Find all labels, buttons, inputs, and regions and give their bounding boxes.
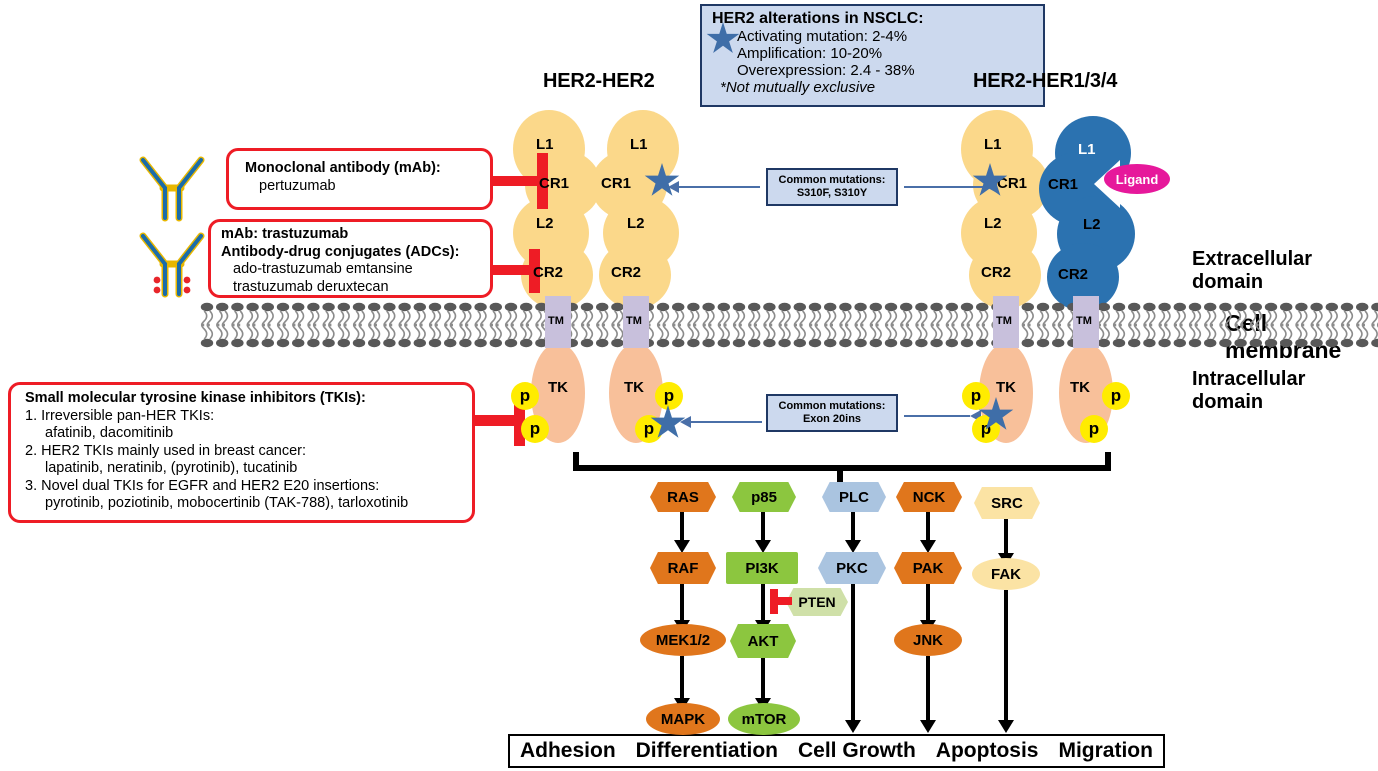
arrowhead-ras-raf (674, 540, 690, 553)
node-RAS: RAS (650, 482, 716, 512)
tki-line-3: 2. HER2 TKIs mainly used in breast cance… (25, 443, 472, 461)
kinase-label-c: TK (996, 379, 1016, 396)
lobe-label-L1-c: L1 (984, 136, 1002, 153)
lobe-label-L2-c: L2 (984, 215, 1002, 232)
arrow-mek-mapk (680, 656, 684, 703)
adc-line-1: Antibody-drug conjugates (ADCs): (221, 244, 490, 262)
outcomes-bar: Adhesion Differentiation Cell Growth Apo… (508, 734, 1165, 768)
node-p85: p85 (732, 482, 796, 512)
arrow-fak-outcome (1004, 590, 1008, 724)
adc-line-2: ado-trastuzumab emtansine (221, 261, 490, 279)
arrowhead-jnk-outcome (920, 720, 936, 733)
lobe-label-L2-b: L2 (627, 215, 645, 232)
arrowhead-fak-outcome (998, 720, 1014, 733)
arrow-raf-mek (680, 584, 684, 624)
kinase-label-a: TK (548, 379, 568, 396)
arrowhead-pkc-outcome (845, 720, 861, 733)
tki-line-1: 1. Irreversible pan-HER TKIs: (25, 408, 472, 426)
arrowhead-nck-pak (920, 540, 936, 553)
node-PAK: PAK (894, 552, 962, 584)
mab-line-0: Monoclonal antibody (mAb): (245, 160, 490, 178)
lobe-label-L2-a: L2 (536, 215, 554, 232)
node-SRC: SRC (974, 487, 1040, 519)
callout-ecd-line2: S310F, S310Y (797, 187, 867, 200)
phospho-d-2: p (1080, 415, 1108, 443)
arrow-pi3k-akt (761, 584, 765, 624)
mab-drug-box: Monoclonal antibody (mAb): pertuzumab (226, 148, 493, 210)
callout-ecd-line1: Common mutations: (779, 174, 886, 187)
tki-line-2: afatinib, dacomitinib (25, 425, 472, 443)
mab-inhibitor-line (490, 176, 540, 186)
extracellular-domain-label: Extracellular domain (1192, 248, 1378, 294)
lobe-label-CR1-d: CR1 (1048, 176, 1078, 193)
tm-label-a: TM (548, 315, 564, 327)
node-MEK1-2: MEK1/2 (640, 624, 726, 656)
arrow-pkc-outcome (851, 584, 855, 724)
node-AKT: AKT (730, 624, 796, 658)
arrow-akt-mtor (761, 658, 765, 703)
pten-inhibitor-line (776, 597, 792, 605)
left-dimer-title: HER2-HER2 (543, 70, 655, 93)
node-JNK: JNK (894, 624, 962, 656)
node-mTOR: mTOR (728, 703, 800, 735)
node-PKC: PKC (818, 552, 886, 584)
lobe-label-L1-a: L1 (536, 136, 554, 153)
lobe-label-L1-b: L1 (630, 136, 648, 153)
phospho-b-1: p (655, 382, 683, 410)
node-MAPK: MAPK (646, 703, 720, 735)
adc-line-0: mAb: trastuzumab (221, 226, 490, 244)
lobe-label-CR1-a: CR1 (539, 175, 569, 192)
callout-arrow-ecd-right (904, 186, 986, 188)
ligand-badge: Ligand (1104, 164, 1170, 194)
antibody-icon-adc (133, 228, 215, 309)
lobe-label-CR2-a: CR2 (533, 264, 563, 281)
node-PLC: PLC (822, 482, 886, 512)
mab-line-1: pertuzumab (245, 178, 490, 196)
lobe-label-L2-d: L2 (1083, 216, 1101, 233)
tki-line-4: lapatinib, neratinib, (pyrotinib), tucat… (25, 460, 472, 478)
adc-drug-box: mAb: trastuzumab Antibody-drug conjugate… (208, 219, 493, 298)
cell-membrane-bilayer (200, 302, 1378, 348)
arrow-pak-jnk (926, 584, 930, 624)
callout-kin-line2: Exon 20ins (803, 413, 861, 426)
infobox-row-0: Activating mutation: 2-4% (712, 28, 1035, 45)
node-PI3K: PI3K (726, 552, 798, 584)
callout-kin-line1: Common mutations: (779, 400, 886, 413)
lobe-label-L1-d: L1 (1078, 141, 1096, 158)
outcome-4: Migration (1058, 739, 1153, 763)
lobe-label-CR1-b: CR1 (601, 175, 631, 192)
phospho-a-2: p (521, 415, 549, 443)
arrow-jnk-outcome (926, 656, 930, 724)
right-dimer-title: HER2-HER1/3/4 (973, 70, 1117, 93)
phospho-a-1: p (511, 382, 539, 410)
phospho-c-1: p (962, 382, 990, 410)
intracellular-domain-label: Intracellular domain (1192, 368, 1378, 414)
tm-label-d: TM (1076, 315, 1092, 327)
callout-arrow-kin-left (690, 421, 762, 423)
node-RAF: RAF (650, 552, 716, 584)
tm-label-b: TM (626, 315, 642, 327)
callout-arrow-ecd-left (678, 186, 760, 188)
pathway-diagram: HER2 alterations in NSCLC: Activating mu… (0, 0, 1378, 771)
outcome-1: Differentiation (636, 739, 778, 763)
lobe-label-CR2-b: CR2 (611, 264, 641, 281)
adc-inhibitor-line (490, 265, 532, 275)
lobe-label-CR2-d: CR2 (1058, 266, 1088, 283)
outcome-3: Apoptosis (936, 739, 1039, 763)
outcome-2: Cell Growth (798, 739, 916, 763)
callout-kinase-mutations: Common mutations: Exon 20ins (766, 394, 898, 432)
arrow-src-fak (1004, 519, 1008, 557)
node-FAK: FAK (972, 558, 1040, 590)
arrowhead-plc-pkc (845, 540, 861, 553)
phospho-d-1: p (1102, 382, 1130, 410)
antibody-icon-mab (133, 152, 211, 229)
node-PTEN: PTEN (786, 588, 848, 616)
tki-drug-box: Small molecular tyrosine kinase inhibito… (8, 382, 475, 523)
node-NCK: NCK (896, 482, 962, 512)
tm-label-c: TM (996, 315, 1012, 327)
infobox-heading: HER2 alterations in NSCLC: (712, 10, 1035, 28)
kinase-label-b: TK (624, 379, 644, 396)
outcome-0: Adhesion (520, 739, 616, 763)
infobox-row-1: Amplification: 10-20% (712, 45, 1035, 62)
lobe-label-CR2-c: CR2 (981, 264, 1011, 281)
pten-inhibitor-cap (770, 589, 778, 614)
callout-extracellular-mutations: Common mutations: S310F, S310Y (766, 168, 898, 206)
tki-line-6: pyrotinib, poziotinib, mobocertinib (TAK… (25, 495, 472, 513)
tki-line-5: 3. Novel dual TKIs for EGFR and HER2 E20… (25, 478, 472, 496)
kinase-label-d: TK (1070, 379, 1090, 396)
tki-line-0: Small molecular tyrosine kinase inhibito… (25, 390, 472, 408)
callout-arrow-kin-right (904, 415, 970, 417)
adc-line-3: trastuzumab deruxtecan (221, 279, 490, 297)
